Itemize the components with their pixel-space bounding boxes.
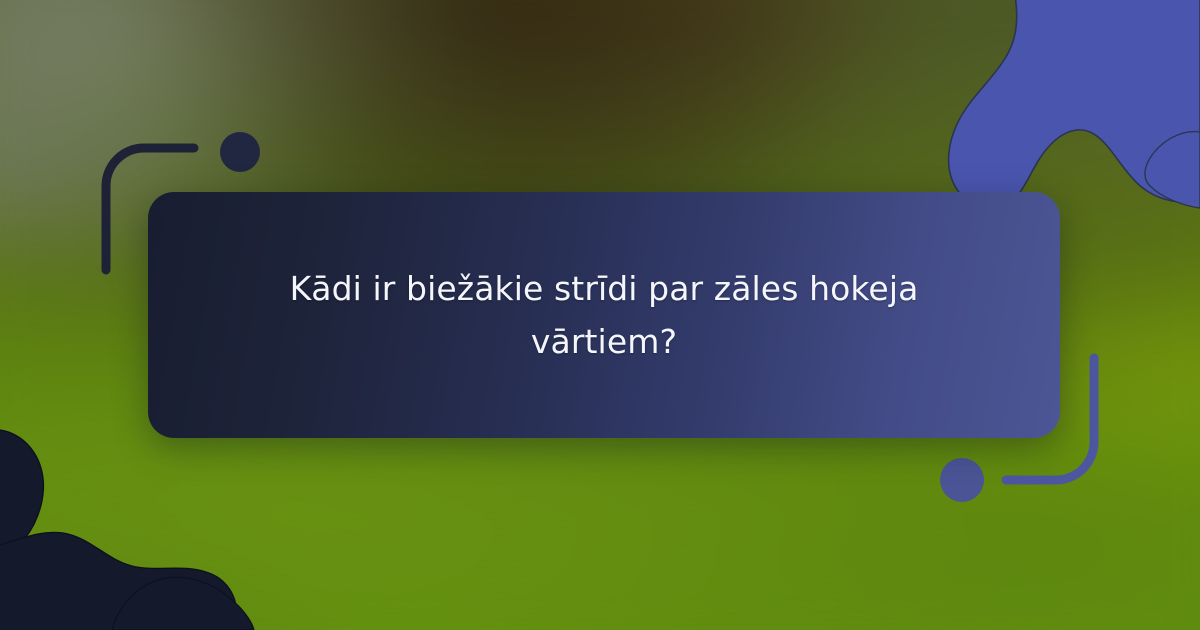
question-card-graphic: Kādi ir biežākie strīdi par zāles hokeja… (0, 0, 1200, 630)
question-card: Kādi ir biežākie strīdi par zāles hokeja… (148, 192, 1060, 438)
question-text: Kādi ir biežākie strīdi par zāles hokeja… (222, 262, 986, 369)
